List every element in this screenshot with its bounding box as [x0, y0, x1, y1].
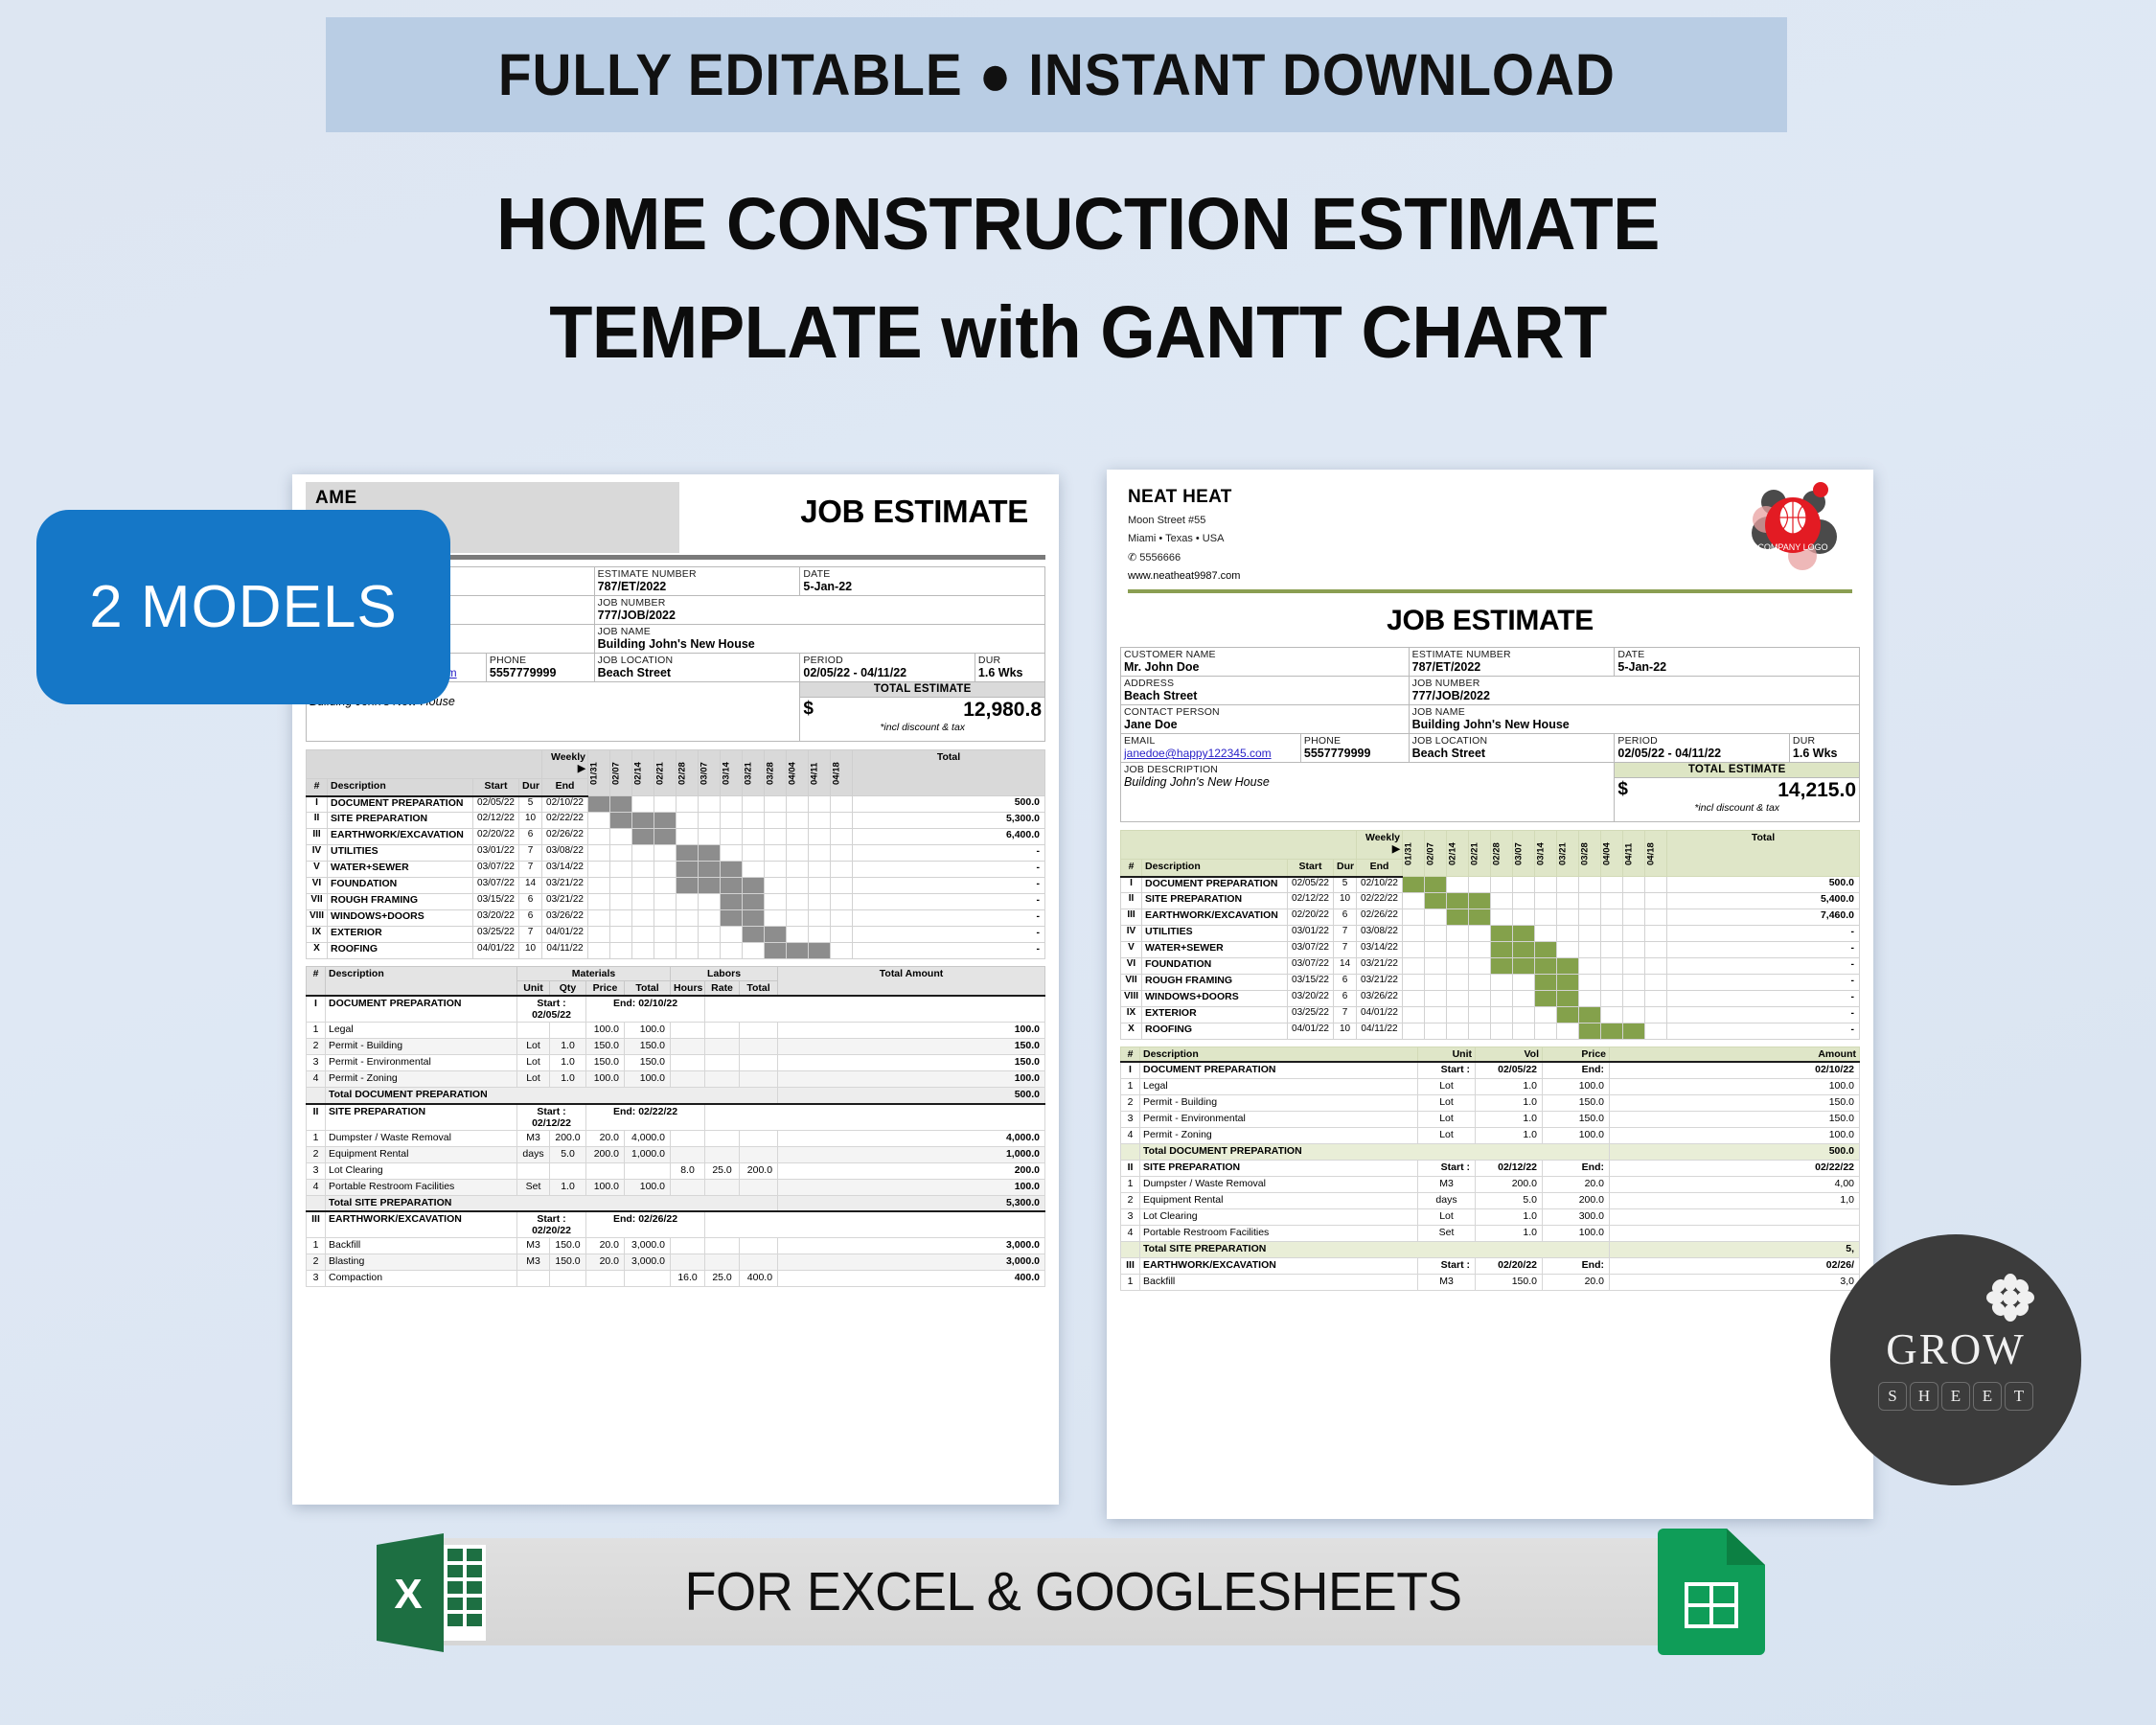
item-qty	[550, 1162, 586, 1179]
gantt-bar-cell	[743, 878, 765, 894]
gantt-row-start: 03/25/22	[1288, 1007, 1334, 1023]
right-email-cell: EMAIL janedoe@happy122345.com	[1121, 734, 1301, 763]
gantt-empty-cell	[1447, 877, 1469, 893]
right-period-cell: PERIOD 02/05/22 - 04/11/22	[1615, 734, 1790, 763]
gantt-empty-cell	[787, 894, 809, 910]
gantt-empty-cell	[654, 927, 677, 943]
item-total-amount: 150.0	[778, 1039, 1045, 1055]
item-unit: M3	[1418, 1274, 1476, 1290]
col-description: Description	[1140, 1047, 1418, 1063]
gantt-empty-cell	[1601, 893, 1623, 909]
item-number: 3	[1121, 1111, 1140, 1127]
gantt-weekly-spacer	[1121, 831, 1357, 860]
item-labor-total	[740, 1238, 778, 1254]
col-qty: Qty	[550, 981, 586, 997]
item-amount: 4,00	[1610, 1176, 1860, 1192]
item-hours	[671, 1238, 705, 1254]
item-qty: 1.0	[550, 1055, 586, 1071]
gantt-empty-cell	[787, 813, 809, 829]
gantt-empty-cell	[699, 943, 721, 959]
gantt-empty-cell	[677, 927, 699, 943]
gantt-empty-cell	[1645, 909, 1667, 926]
estimate-number-label: ESTIMATE NUMBER	[598, 568, 797, 580]
gantt-row-desc: UTILITIES	[1142, 926, 1288, 942]
gantt-empty-cell	[632, 845, 654, 862]
gantt-empty-cell	[588, 943, 610, 959]
left-job-number-cell: JOB NUMBER 777/JOB/2022	[594, 596, 1044, 625]
job-location-value: Beach Street	[598, 666, 797, 679]
gantt-row-end: 03/21/22	[542, 894, 588, 910]
gantt-row-total: -	[1667, 958, 1860, 975]
gantt-empty-cell	[1403, 893, 1425, 909]
item-vol: 1.0	[1476, 1225, 1543, 1241]
gantt-empty-cell	[1491, 893, 1513, 909]
gantt-bar-cell	[677, 878, 699, 894]
gantt-empty-cell	[721, 829, 743, 845]
right-job-description-cell: JOB DESCRIPTION Building John's New Hous…	[1121, 763, 1615, 822]
gantt-empty-cell	[1535, 877, 1557, 893]
gantt-row-end: 04/11/22	[1357, 1023, 1403, 1040]
gantt-empty-cell	[654, 910, 677, 927]
gantt-empty-cell	[588, 894, 610, 910]
gantt-empty-cell	[1645, 991, 1667, 1007]
gantt-empty-cell	[1579, 909, 1601, 926]
gantt-row-end: 03/08/22	[1357, 926, 1403, 942]
gantt-row-number: VII	[1121, 975, 1142, 991]
gantt-empty-cell	[1425, 909, 1447, 926]
gantt-bar-cell	[1469, 893, 1491, 909]
gantt-empty-cell	[787, 862, 809, 878]
gantt-empty-cell	[721, 927, 743, 943]
item-hours	[671, 1254, 705, 1271]
item-labor-total	[740, 1179, 778, 1195]
gantt-header-row-1: Weekly ▶01/3102/0702/1402/2102/2803/0703…	[1121, 831, 1860, 860]
item-materials-total: 100.0	[625, 1179, 671, 1195]
item-price: 100.0	[1543, 1127, 1610, 1143]
gantt-row-total: -	[853, 927, 1045, 943]
section-end-label: End:	[1543, 1257, 1610, 1274]
right-job-location-cell: JOB LOCATION Beach Street	[1409, 734, 1615, 763]
gantt-bar-cell	[677, 862, 699, 878]
gantt-col-0: #	[307, 779, 328, 796]
title-line-1: HOME CONSTRUCTION ESTIMATE	[43, 182, 2113, 267]
total-estimate-value: 14,215.0	[1617, 779, 1856, 802]
gantt-row-desc: WINDOWS+DOORS	[328, 910, 473, 927]
title-line-2: TEMPLATE with GANTT CHART	[43, 290, 2113, 376]
item-amount: 3,0	[1610, 1274, 1860, 1290]
gantt-bar-cell	[721, 878, 743, 894]
item-description: Lot Clearing	[1140, 1208, 1418, 1225]
col-hours: Hours	[671, 981, 705, 997]
gantt-row: XROOFING04/01/221004/11/22-	[307, 943, 1045, 959]
gantt-empty-cell	[610, 943, 632, 959]
document-right-green-model[interactable]: NEAT HEAT Moon Street #55 Miami • Texas …	[1107, 470, 1873, 1519]
gantt-row-total: -	[853, 845, 1045, 862]
gantt-empty-cell	[1469, 942, 1491, 958]
contact-person-value: Jane Doe	[1124, 718, 1406, 731]
detail-item-row: 1Legal100.0100.0100.0	[307, 1023, 1045, 1039]
gantt-bar-cell	[1513, 942, 1535, 958]
section-start-label: Start :	[1418, 1160, 1476, 1176]
gantt-row-desc: EXTERIOR	[328, 927, 473, 943]
gantt-empty-cell	[1425, 942, 1447, 958]
table-row: CONTACT PERSON Jane Doe JOB NAME Buildin…	[1121, 705, 1860, 734]
item-vol: 1.0	[1476, 1111, 1543, 1127]
gantt-row-number: IV	[307, 845, 328, 862]
gantt-empty-cell	[1623, 926, 1645, 942]
gantt-empty-cell	[1425, 958, 1447, 975]
gantt-bar-cell	[1447, 893, 1469, 909]
gantt-row-dur: 6	[1334, 909, 1357, 926]
gantt-empty-cell	[1645, 926, 1667, 942]
detail-item-row: 3Compaction16.025.0400.0400.0	[307, 1271, 1045, 1287]
gantt-empty-cell	[1557, 926, 1579, 942]
gantt-row-start: 02/05/22	[473, 796, 519, 813]
item-hours	[671, 1039, 705, 1055]
gantt-empty-cell	[1535, 893, 1557, 909]
gantt-row-number: X	[307, 943, 328, 959]
gantt-row-desc: EXTERIOR	[1142, 1007, 1288, 1023]
section-total-label: Total DOCUMENT PREPARATION	[326, 1088, 778, 1104]
gantt-row-number: IV	[1121, 926, 1142, 942]
gantt-row: VIIROUGH FRAMING03/15/22603/21/22-	[1121, 975, 1860, 991]
gantt-empty-cell	[809, 845, 831, 862]
gantt-empty-cell	[787, 927, 809, 943]
gantt-week-6: 03/14	[721, 750, 743, 796]
item-unit: Lot	[1418, 1127, 1476, 1143]
item-hours	[671, 1071, 705, 1088]
right-doc-header: NEAT HEAT Moon Street #55 Miami • Texas …	[1107, 470, 1873, 582]
gantt-bar-cell	[1469, 909, 1491, 926]
col-total: Total	[740, 981, 778, 997]
item-price	[586, 1162, 625, 1179]
gantt-empty-cell	[1513, 877, 1535, 893]
item-price: 20.0	[586, 1238, 625, 1254]
gantt-bar-cell	[1623, 1023, 1645, 1040]
item-description: Portable Restroom Facilities	[326, 1179, 517, 1195]
gantt-row-end: 02/10/22	[542, 796, 588, 813]
gantt-empty-cell	[699, 829, 721, 845]
detail-item-row: 4Permit - ZoningLot1.0100.0100.0100.0	[307, 1071, 1045, 1088]
gantt-empty-cell	[1645, 1007, 1667, 1023]
gantt-week-9: 04/04	[787, 750, 809, 796]
gantt-bar-cell	[1403, 877, 1425, 893]
gantt-empty-cell	[677, 910, 699, 927]
item-unit: M3	[517, 1130, 550, 1146]
gantt-row-end: 03/21/22	[542, 878, 588, 894]
col-total-amount: Total Amount	[778, 967, 1045, 997]
item-total-amount: 150.0	[778, 1055, 1045, 1071]
gantt-week-0: 01/31	[1403, 831, 1425, 877]
total-estimate-label: TOTAL ESTIMATE	[1615, 763, 1860, 778]
item-qty: 150.0	[550, 1254, 586, 1271]
right-job-name-cell: JOB NAME Building John's New House	[1409, 705, 1859, 734]
gantt-empty-cell	[1645, 958, 1667, 975]
item-amount: 100.0	[1610, 1127, 1860, 1143]
gantt-empty-cell	[1491, 877, 1513, 893]
left-period-cell: PERIOD 02/05/22 - 04/11/22	[800, 654, 975, 682]
gantt-bar-cell	[1601, 1023, 1623, 1040]
item-total-amount: 100.0	[778, 1071, 1045, 1088]
gantt-empty-cell	[1403, 991, 1425, 1007]
gantt-empty-cell	[1513, 991, 1535, 1007]
item-rate	[705, 1179, 740, 1195]
gantt-empty-cell	[1513, 1023, 1535, 1040]
item-price: 150.0	[586, 1055, 625, 1071]
section-total-value: 5,300.0	[778, 1195, 1045, 1211]
gantt-row-total: -	[1667, 991, 1860, 1007]
gantt-col-2: Start	[473, 779, 519, 796]
section-name: SITE PREPARATION	[326, 1104, 517, 1131]
gantt-row-dur: 7	[519, 845, 542, 862]
item-materials-total: 100.0	[625, 1023, 671, 1039]
detail-item-row: 4Portable Restroom FacilitiesSet1.0100.0	[1121, 1225, 1860, 1241]
item-vol: 1.0	[1476, 1094, 1543, 1111]
detail-header-group-row: #DescriptionMaterialsLaborsTotal Amount	[307, 967, 1045, 981]
job-number-label: JOB NUMBER	[1412, 678, 1856, 689]
job-location-value: Beach Street	[1412, 747, 1612, 760]
gantt-bar-cell	[677, 845, 699, 862]
gantt-bar-cell	[1535, 958, 1557, 975]
gantt-weekly-label: Weekly ▶	[542, 750, 588, 779]
gantt-week-11: 04/18	[831, 750, 853, 796]
footer-text: FOR EXCEL & GOOGLESHEETS	[459, 1538, 1688, 1645]
gantt-week-9: 04/04	[1601, 831, 1623, 877]
gantt-row-total: 7,460.0	[1667, 909, 1860, 926]
gantt-week-4: 02/28	[677, 750, 699, 796]
item-unit: Lot	[517, 1055, 550, 1071]
item-rate	[705, 1254, 740, 1271]
right-address-cell: ADDRESS Beach Street	[1121, 677, 1410, 705]
gantt-empty-cell	[787, 796, 809, 813]
gantt-col-1: Description	[1142, 860, 1288, 877]
gantt-bar-cell	[654, 813, 677, 829]
gantt-row-end: 03/21/22	[1357, 975, 1403, 991]
item-rate	[705, 1130, 740, 1146]
gantt-empty-cell	[1447, 991, 1469, 1007]
gantt-row: IIIEARTHWORK/EXCAVATION02/20/22602/26/22…	[1121, 909, 1860, 926]
item-description: Portable Restroom Facilities	[1140, 1225, 1418, 1241]
flower-icon	[1985, 1273, 2035, 1322]
item-number: 2	[307, 1254, 326, 1271]
gantt-row-end: 02/10/22	[1357, 877, 1403, 893]
gantt-empty-cell	[721, 943, 743, 959]
item-amount	[1610, 1225, 1860, 1241]
gantt-empty-cell	[699, 910, 721, 927]
gantt-empty-cell	[831, 862, 853, 878]
gantt-empty-cell	[1645, 877, 1667, 893]
gantt-row-number: VII	[307, 894, 328, 910]
gantt-empty-cell	[765, 813, 787, 829]
item-hours: 16.0	[671, 1271, 705, 1287]
gantt-empty-cell	[1491, 975, 1513, 991]
col-price: Price	[586, 981, 625, 997]
gantt-empty-cell	[1645, 975, 1667, 991]
gantt-row-total: -	[1667, 1023, 1860, 1040]
item-qty: 1.0	[550, 1071, 586, 1088]
right-gantt-chart: Weekly ▶01/3102/0702/1402/2102/2803/0703…	[1120, 830, 1860, 1040]
email-value[interactable]: janedoe@happy122345.com	[1124, 747, 1297, 760]
gantt-row-number: I	[1121, 877, 1142, 893]
gantt-empty-cell	[610, 829, 632, 845]
item-hours	[671, 1130, 705, 1146]
right-header-rule	[1128, 589, 1852, 593]
gantt-row-total: -	[1667, 926, 1860, 942]
gantt-empty-cell	[1447, 926, 1469, 942]
item-hours: 8.0	[671, 1162, 705, 1179]
gantt-empty-cell	[632, 927, 654, 943]
item-total-amount: 400.0	[778, 1271, 1045, 1287]
item-materials-total: 3,000.0	[625, 1254, 671, 1271]
gantt-bar-cell	[1579, 1007, 1601, 1023]
dur-label: DUR	[978, 655, 1042, 666]
item-total-amount: 4,000.0	[778, 1130, 1045, 1146]
gantt-bar-cell	[787, 943, 809, 959]
gantt-row-end: 03/26/22	[1357, 991, 1403, 1007]
gantt-bar-cell	[1557, 958, 1579, 975]
item-number: 1	[307, 1023, 326, 1039]
gantt-empty-cell	[809, 829, 831, 845]
gantt-empty-cell	[1469, 926, 1491, 942]
gantt-empty-cell	[1601, 877, 1623, 893]
estimate-number-label: ESTIMATE NUMBER	[1412, 649, 1612, 660]
address-label: ADDRESS	[1124, 678, 1406, 689]
gantt-empty-cell	[831, 910, 853, 927]
item-unit: Lot	[1418, 1094, 1476, 1111]
section-start-value: 02/20/22	[1476, 1257, 1543, 1274]
gantt-row-dur: 10	[519, 943, 542, 959]
gantt-row-start: 02/20/22	[473, 829, 519, 845]
gantt-empty-cell	[721, 796, 743, 813]
job-name-value: Building John's New House	[1412, 718, 1856, 731]
gantt-empty-cell	[632, 862, 654, 878]
gantt-empty-cell	[831, 894, 853, 910]
gantt-row-dur: 14	[1334, 958, 1357, 975]
gantt-empty-cell	[1403, 1023, 1425, 1040]
right-doc-title: JOB ESTIMATE	[1107, 605, 1873, 637]
gantt-row-end: 02/22/22	[1357, 893, 1403, 909]
item-description: Backfill	[1140, 1274, 1418, 1290]
item-rate: 25.0	[705, 1162, 740, 1179]
item-description: Dumpster / Waste Removal	[326, 1130, 517, 1146]
gantt-row-desc: DOCUMENT PREPARATION	[328, 796, 473, 813]
date-value: 5-Jan-22	[803, 580, 1042, 593]
job-description-value: Building John's New House	[1124, 775, 1611, 789]
gantt-row-total: -	[1667, 1007, 1860, 1023]
gantt-empty-cell	[632, 894, 654, 910]
gantt-row-number: IX	[1121, 1007, 1142, 1023]
section-number: I	[1121, 1062, 1140, 1078]
gantt-empty-cell	[588, 910, 610, 927]
detail-header-row: #DescriptionUnitVolPriceAmount	[1121, 1047, 1860, 1063]
item-price: 100.0	[586, 1179, 625, 1195]
gantt-empty-cell	[1645, 942, 1667, 958]
gantt-empty-cell	[809, 927, 831, 943]
item-materials-total: 100.0	[625, 1071, 671, 1088]
gantt-empty-cell	[1535, 1007, 1557, 1023]
gantt-row-number: VIII	[1121, 991, 1142, 1007]
gantt-empty-cell	[677, 829, 699, 845]
right-customer-name-cell: CUSTOMER NAME Mr. John Doe	[1121, 648, 1410, 677]
right-dur-cell: DUR 1.6 Wks	[1789, 734, 1859, 763]
gantt-col-2: Start	[1288, 860, 1334, 877]
gantt-empty-cell	[1645, 893, 1667, 909]
section-start-value: 02/05/22	[1476, 1062, 1543, 1078]
gantt-empty-cell	[610, 845, 632, 862]
promo-ribbon-text: FULLY EDITABLE ● INSTANT DOWNLOAD	[498, 41, 1616, 108]
total-estimate-value: 12,980.8	[803, 699, 1042, 722]
gantt-empty-cell	[1425, 926, 1447, 942]
gantt-empty-cell	[1447, 1007, 1469, 1023]
gantt-empty-cell	[1623, 991, 1645, 1007]
gantt-empty-cell	[765, 878, 787, 894]
table-row: CUSTOMER NAME Mr. John Doe ESTIMATE NUMB…	[1121, 648, 1860, 677]
gantt-bar-cell	[809, 943, 831, 959]
gantt-empty-cell	[699, 796, 721, 813]
item-qty: 150.0	[550, 1238, 586, 1254]
section-end-label: End: 02/26/22	[586, 1211, 705, 1238]
gantt-row-number: VIII	[307, 910, 328, 927]
item-labor-total	[740, 1023, 778, 1039]
gantt-row-dur: 6	[519, 829, 542, 845]
col-unit: Unit	[1418, 1047, 1476, 1063]
gantt-empty-cell	[1557, 1023, 1579, 1040]
gantt-week-1: 02/07	[1425, 831, 1447, 877]
item-rate: 25.0	[705, 1271, 740, 1287]
gantt-week-3: 02/21	[654, 750, 677, 796]
gantt-empty-cell	[654, 845, 677, 862]
gantt-row-total: 5,400.0	[1667, 893, 1860, 909]
gantt-row: VWATER+SEWER03/07/22703/14/22-	[1121, 942, 1860, 958]
gantt-empty-cell	[1623, 942, 1645, 958]
item-description: Legal	[326, 1023, 517, 1039]
gantt-row-desc: FOUNDATION	[328, 878, 473, 894]
job-number-label: JOB NUMBER	[598, 597, 1042, 609]
item-amount: 1,0	[1610, 1192, 1860, 1208]
detail-item-row: 1Dumpster / Waste RemovalM3200.020.04,00	[1121, 1176, 1860, 1192]
gantt-bar-cell	[1425, 877, 1447, 893]
gantt-empty-cell	[1491, 1007, 1513, 1023]
job-description-label: JOB DESCRIPTION	[1124, 764, 1611, 775]
gantt-row: IISITE PREPARATION02/12/221002/22/225,40…	[1121, 893, 1860, 909]
gantt-row-end: 02/26/22	[1357, 909, 1403, 926]
gantt-row: IISITE PREPARATION02/12/221002/22/225,30…	[307, 813, 1045, 829]
gantt-empty-cell	[1535, 926, 1557, 942]
item-rate	[705, 1238, 740, 1254]
customer-name-label: CUSTOMER NAME	[1124, 649, 1406, 660]
item-description: Equipment Rental	[1140, 1192, 1418, 1208]
gantt-week-5: 03/07	[699, 750, 721, 796]
gantt-empty-cell	[1623, 958, 1645, 975]
gantt-row-dur: 5	[519, 796, 542, 813]
phone-value: 5557779999	[490, 666, 591, 679]
gantt-empty-cell	[1491, 909, 1513, 926]
date-label: DATE	[1617, 649, 1856, 660]
gantt-row-start: 02/05/22	[1288, 877, 1334, 893]
col-unit: Unit	[517, 981, 550, 997]
gantt-row-desc: SITE PREPARATION	[1142, 893, 1288, 909]
gantt-empty-cell	[1425, 1007, 1447, 1023]
gantt-bar-cell	[1557, 1007, 1579, 1023]
section-total-value: 500.0	[1610, 1143, 1860, 1160]
gantt-empty-cell	[787, 910, 809, 927]
gantt-row-dur: 7	[1334, 1007, 1357, 1023]
left-total-estimate-cell: $ 12,980.8 *incl discount & tax	[800, 698, 1045, 742]
item-price: 20.0	[1543, 1274, 1610, 1290]
item-price: 100.0	[586, 1071, 625, 1088]
detail-total-row: Total DOCUMENT PREPARATION500.0	[307, 1088, 1045, 1104]
gantt-empty-cell	[1623, 975, 1645, 991]
